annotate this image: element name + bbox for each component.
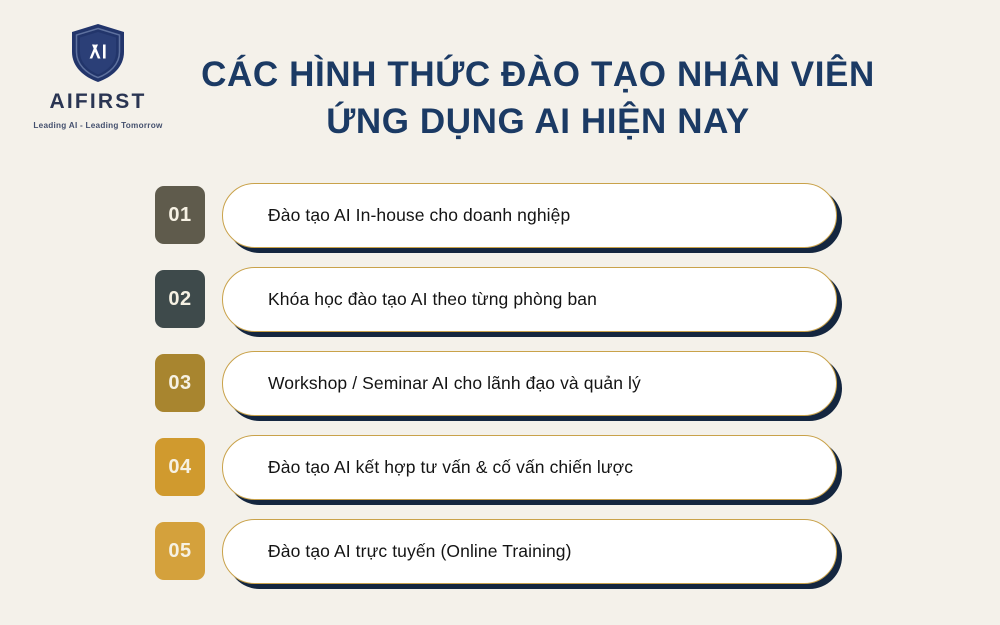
brand-wordmark: AIFIRST (18, 90, 178, 114)
item-number-badge: 04 (155, 438, 205, 496)
item-card[interactable]: Đào tạo AI kết hợp tư vấn & cố vấn chiến… (222, 435, 837, 500)
item-label: Đào tạo AI trực tuyến (Online Training) (268, 541, 572, 562)
brand-tagline: Leading AI - Leading Tomorrow (18, 121, 178, 130)
title-line-2: ỨNG DỤNG AI HIỆN NAY (188, 99, 888, 146)
card-surface[interactable]: Workshop / Seminar AI cho lãnh đạo và qu… (222, 351, 837, 416)
item-number-badge: 05 (155, 522, 205, 580)
item-label: Đào tạo AI In-house cho doanh nghiệp (268, 205, 570, 226)
card-surface[interactable]: Đào tạo AI kết hợp tư vấn & cố vấn chiến… (222, 435, 837, 500)
list-item[interactable]: 01 Đào tạo AI In-house cho doanh nghiệp (155, 183, 855, 248)
item-label: Đào tạo AI kết hợp tư vấn & cố vấn chiến… (268, 457, 633, 478)
card-surface[interactable]: Khóa học đào tạo AI theo từng phòng ban (222, 267, 837, 332)
title-line-1: CÁC HÌNH THỨC ĐÀO TẠO NHÂN VIÊN (188, 52, 888, 99)
list-item[interactable]: 03 Workshop / Seminar AI cho lãnh đạo và… (155, 351, 855, 416)
card-surface[interactable]: Đào tạo AI In-house cho doanh nghiệp (222, 183, 837, 248)
item-label: Khóa học đào tạo AI theo từng phòng ban (268, 289, 597, 310)
item-number-badge: 02 (155, 270, 205, 328)
list-item[interactable]: 05 Đào tạo AI trực tuyến (Online Trainin… (155, 519, 855, 584)
training-methods-list: 01 Đào tạo AI In-house cho doanh nghiệp … (155, 183, 855, 584)
item-card[interactable]: Đào tạo AI trực tuyến (Online Training) (222, 519, 837, 584)
item-card[interactable]: Đào tạo AI In-house cho doanh nghiệp (222, 183, 837, 248)
page-title: CÁC HÌNH THỨC ĐÀO TẠO NHÂN VIÊN ỨNG DỤNG… (188, 52, 888, 146)
item-label: Workshop / Seminar AI cho lãnh đạo và qu… (268, 373, 641, 394)
item-number-badge: 01 (155, 186, 205, 244)
item-card[interactable]: Workshop / Seminar AI cho lãnh đạo và qu… (222, 351, 837, 416)
item-number-badge: 03 (155, 354, 205, 412)
shield-icon (18, 22, 178, 84)
brand-logo: AIFIRST Leading AI - Leading Tomorrow (18, 22, 178, 130)
card-surface[interactable]: Đào tạo AI trực tuyến (Online Training) (222, 519, 837, 584)
list-item[interactable]: 04 Đào tạo AI kết hợp tư vấn & cố vấn ch… (155, 435, 855, 500)
list-item[interactable]: 02 Khóa học đào tạo AI theo từng phòng b… (155, 267, 855, 332)
item-card[interactable]: Khóa học đào tạo AI theo từng phòng ban (222, 267, 837, 332)
